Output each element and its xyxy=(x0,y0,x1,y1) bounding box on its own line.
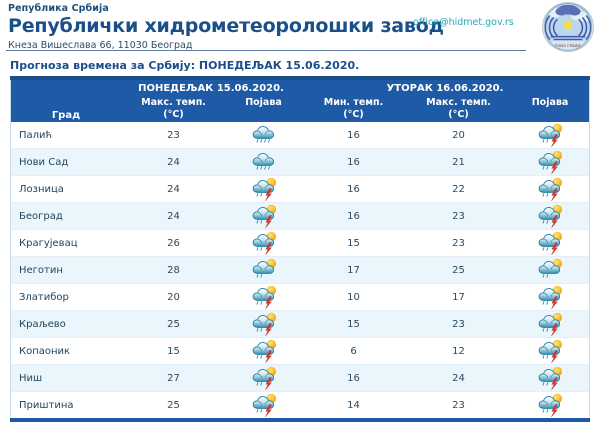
cell-monday-phenomenon xyxy=(226,230,301,257)
cell-tuesday-max: 22 xyxy=(406,176,511,203)
cell-monday-max: 24 xyxy=(121,149,226,176)
cell-monday-phenomenon xyxy=(226,122,301,149)
cell-monday-max: 25 xyxy=(121,311,226,338)
cell-tuesday-phenomenon xyxy=(511,365,589,392)
sun-cloud-thunder-rain-icon xyxy=(247,365,281,391)
cell-city: Копаоник xyxy=(11,338,121,365)
cell-city: Нови Сад xyxy=(11,149,121,176)
cell-tuesday-max: 23 xyxy=(406,311,511,338)
table-row: Палић231620 xyxy=(11,122,589,149)
sun-cloud-thunder-rain-icon xyxy=(247,311,281,337)
cell-tuesday-max: 23 xyxy=(406,392,511,419)
column-group-header-monday: ПОНЕДЕЉАК 15.06.2020. xyxy=(121,80,301,95)
cell-monday-phenomenon xyxy=(226,284,301,311)
sun-cloud-thunder-rain-icon xyxy=(247,230,281,256)
cell-tuesday-phenomenon xyxy=(511,149,589,176)
column-header-monday-max: Макс. темп. (°C) xyxy=(121,95,226,122)
column-header-tuesday-phenomenon: Појава xyxy=(511,95,589,122)
sun-cloud-thunder-rain-icon xyxy=(533,284,567,310)
column-header-monday-phenomenon: Појава xyxy=(226,95,301,122)
cell-tuesday-max: 20 xyxy=(406,122,511,149)
sun-cloud-thunder-rain-icon xyxy=(533,365,567,391)
cell-tuesday-max: 21 xyxy=(406,149,511,176)
cell-tuesday-phenomenon xyxy=(511,392,589,419)
column-group-header-tuesday: УТОРАК 16.06.2020. xyxy=(301,80,589,95)
table-row: Београд241623 xyxy=(11,203,589,230)
cell-monday-phenomenon xyxy=(226,392,301,419)
forecast-page: Република Србија Републички хидрометеоро… xyxy=(0,0,600,429)
cell-tuesday-min: 17 xyxy=(301,257,406,284)
cell-city: Лозница xyxy=(11,176,121,203)
table-header: Град ПОНЕДЕЉАК 15.06.2020. УТОРАК 16.06.… xyxy=(11,80,589,122)
table-row: Краљево251523 xyxy=(11,311,589,338)
cell-monday-phenomenon xyxy=(226,311,301,338)
table-row: Неготин281725 xyxy=(11,257,589,284)
cell-monday-phenomenon xyxy=(226,203,301,230)
cell-monday-max: 24 xyxy=(121,203,226,230)
cell-tuesday-min: 10 xyxy=(301,284,406,311)
svg-text:РХМЗ СРБИЈЕ: РХМЗ СРБИЈЕ xyxy=(555,43,582,48)
sun-cloud-thunder-rain-icon xyxy=(533,338,567,364)
table-row: Лозница241622 xyxy=(11,176,589,203)
table-row: Златибор201017 xyxy=(11,284,589,311)
sun-cloud-rain-icon xyxy=(247,257,281,283)
sun-cloud-thunder-rain-icon xyxy=(247,284,281,310)
rhmz-logo: РХМЗ СРБИЈЕ xyxy=(542,2,594,52)
column-header-tuesday-max: Макс. темп. (°C) xyxy=(406,95,511,122)
cell-tuesday-min: 16 xyxy=(301,149,406,176)
column-header-city: Град xyxy=(11,80,121,122)
cell-tuesday-max: 17 xyxy=(406,284,511,311)
sun-cloud-thunder-rain-icon xyxy=(533,203,567,229)
cell-tuesday-min: 16 xyxy=(301,365,406,392)
cell-city: Ниш xyxy=(11,365,121,392)
sun-cloud-thunder-rain-icon xyxy=(533,122,567,148)
cell-city: Краљево xyxy=(11,311,121,338)
cell-monday-max: 23 xyxy=(121,122,226,149)
cell-tuesday-min: 14 xyxy=(301,392,406,419)
sun-cloud-thunder-rain-icon xyxy=(533,311,567,337)
table-row: Ниш271624 xyxy=(11,365,589,392)
sun-cloud-thunder-rain-icon xyxy=(247,392,281,418)
cell-tuesday-phenomenon xyxy=(511,257,589,284)
sun-cloud-thunder-rain-icon xyxy=(533,176,567,202)
cell-city: Златибор xyxy=(11,284,121,311)
cell-monday-phenomenon xyxy=(226,176,301,203)
cell-city: Београд xyxy=(11,203,121,230)
header-divider xyxy=(6,50,526,51)
cell-tuesday-max: 25 xyxy=(406,257,511,284)
cell-monday-max: 15 xyxy=(121,338,226,365)
cell-tuesday-max: 23 xyxy=(406,203,511,230)
cell-tuesday-min: 15 xyxy=(301,311,406,338)
tuesday-max-unit: (°C) xyxy=(406,109,511,121)
sun-cloud-thunder-rain-icon xyxy=(247,176,281,202)
cell-tuesday-max: 12 xyxy=(406,338,511,365)
forecast-table-wrapper: Град ПОНЕДЕЉАК 15.06.2020. УТОРАК 16.06.… xyxy=(10,80,590,418)
sun-cloud-thunder-rain-icon xyxy=(533,392,567,418)
cell-tuesday-min: 15 xyxy=(301,230,406,257)
cell-monday-phenomenon xyxy=(226,338,301,365)
cell-monday-phenomenon xyxy=(226,149,301,176)
sun-cloud-thunder-rain-icon xyxy=(247,338,281,364)
cell-city: Приштина xyxy=(11,392,121,419)
tuesday-max-label: Макс. темп. xyxy=(426,97,491,108)
cell-tuesday-max: 24 xyxy=(406,365,511,392)
cell-monday-phenomenon xyxy=(226,257,301,284)
forecast-subtitle: Прогноза времена за Србију: ПОНЕДЕЉАК 15… xyxy=(0,56,600,76)
cell-tuesday-min: 6 xyxy=(301,338,406,365)
sun-cloud-thunder-rain-icon xyxy=(533,230,567,256)
cell-city: Палић xyxy=(11,122,121,149)
page-header: Република Србија Републички хидрометеоро… xyxy=(0,0,600,56)
cell-city: Неготин xyxy=(11,257,121,284)
organisation-country: Република Србија xyxy=(8,3,600,15)
tuesday-min-label: Мин. темп. xyxy=(324,97,383,108)
cell-tuesday-phenomenon xyxy=(511,284,589,311)
cell-tuesday-phenomenon xyxy=(511,203,589,230)
rain-cloud-icon xyxy=(247,122,281,148)
table-row: Приштина251423 xyxy=(11,392,589,419)
table-row: Нови Сад241621 xyxy=(11,149,589,176)
cell-monday-max: 27 xyxy=(121,365,226,392)
cell-tuesday-phenomenon xyxy=(511,230,589,257)
table-row: Крагујевац261523 xyxy=(11,230,589,257)
cell-tuesday-phenomenon xyxy=(511,338,589,365)
sun-cloud-thunder-rain-icon xyxy=(533,149,567,175)
cell-tuesday-min: 16 xyxy=(301,122,406,149)
sun-cloud-thunder-rain-icon xyxy=(247,203,281,229)
monday-max-label: Макс. темп. xyxy=(141,97,206,108)
cell-monday-max: 26 xyxy=(121,230,226,257)
cell-monday-max: 24 xyxy=(121,176,226,203)
table-header-day-row: Град ПОНЕДЕЉАК 15.06.2020. УТОРАК 16.06.… xyxy=(11,80,589,95)
cell-tuesday-phenomenon xyxy=(511,311,589,338)
monday-max-unit: (°C) xyxy=(121,109,226,121)
cell-monday-max: 20 xyxy=(121,284,226,311)
cell-monday-max: 25 xyxy=(121,392,226,419)
cell-tuesday-max: 23 xyxy=(406,230,511,257)
sun-cloud-rain-icon xyxy=(533,257,567,283)
table-row: Копаоник15612 xyxy=(11,338,589,365)
forecast-table: Град ПОНЕДЕЉАК 15.06.2020. УТОРАК 16.06.… xyxy=(11,80,589,418)
contact-email-link[interactable]: office@hidmet.gov.rs xyxy=(413,17,514,28)
table-body: Палић231620Нови Сад241621Лозница241622Бе… xyxy=(11,122,589,418)
cell-tuesday-min: 16 xyxy=(301,203,406,230)
tuesday-min-unit: (°C) xyxy=(301,109,406,121)
cell-tuesday-phenomenon xyxy=(511,122,589,149)
cell-city: Крагујевац xyxy=(11,230,121,257)
column-header-tuesday-min: Мин. темп. (°C) xyxy=(301,95,406,122)
cell-monday-phenomenon xyxy=(226,365,301,392)
table-bottom-accent-bar xyxy=(10,418,590,422)
cell-tuesday-min: 16 xyxy=(301,176,406,203)
rain-cloud-icon xyxy=(247,149,281,175)
cell-tuesday-phenomenon xyxy=(511,176,589,203)
cell-monday-max: 28 xyxy=(121,257,226,284)
rhmz-logo-icon: РХМЗ СРБИЈЕ xyxy=(543,3,593,51)
